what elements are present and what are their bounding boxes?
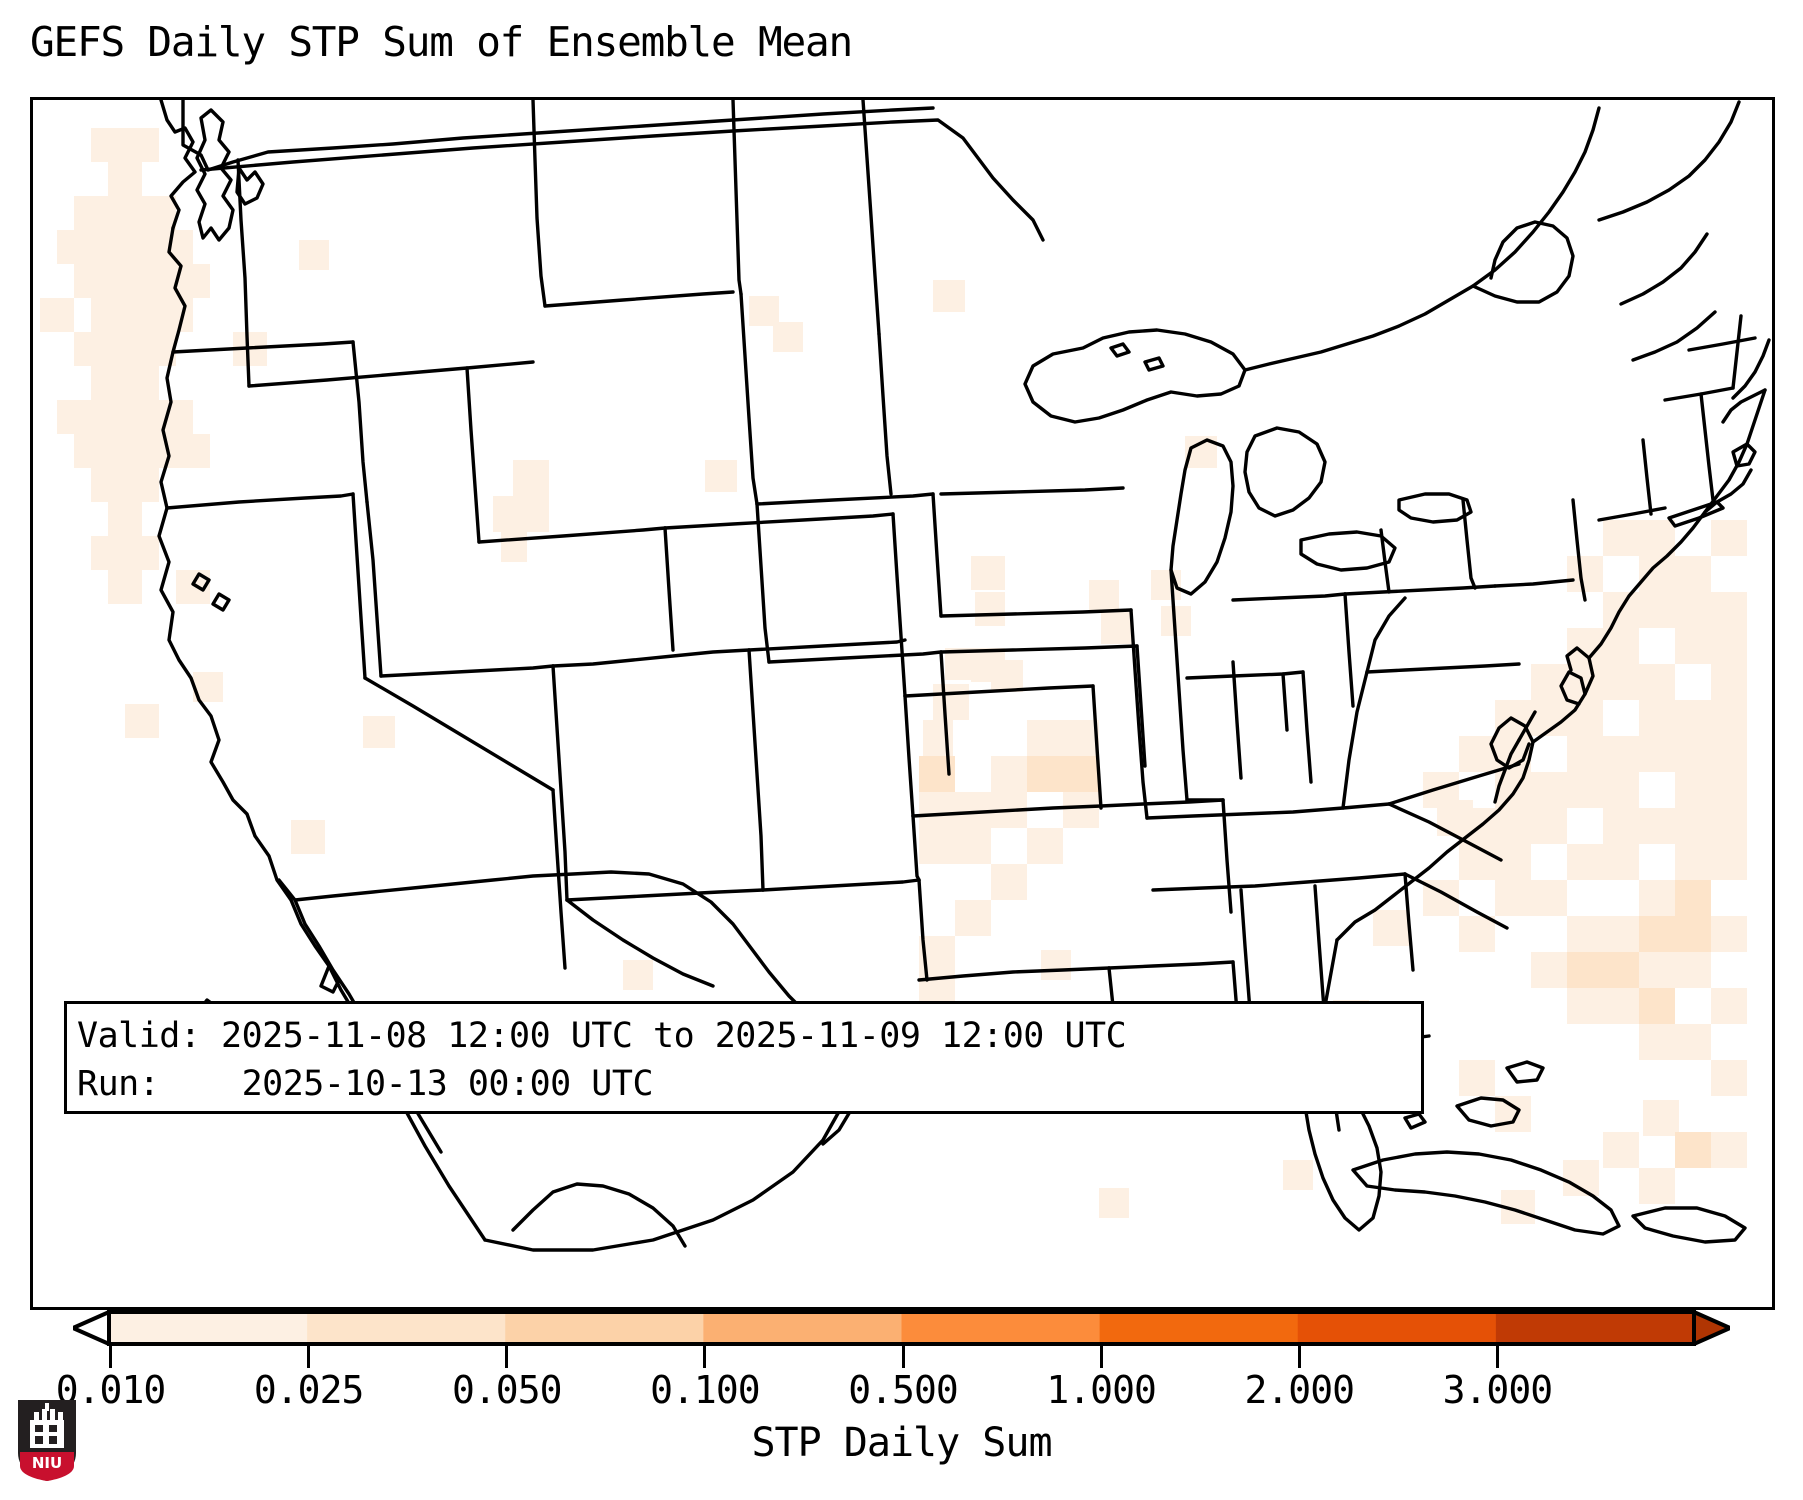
niu-logo: NIU xyxy=(16,1398,78,1483)
geography-outline-layer xyxy=(33,100,1772,1307)
niu-logo-text: NIU xyxy=(32,1454,62,1472)
colorbar-tick-label: 0.050 xyxy=(452,1368,561,1412)
forecast-info-box: Valid: 2025-11-08 12:00 UTC to 2025-11-0… xyxy=(64,1001,1424,1114)
colorbar-bin xyxy=(307,1312,506,1344)
colorbar-tick xyxy=(1298,1346,1301,1368)
colorbar-tick-label: 0.025 xyxy=(254,1368,363,1412)
colorbar-tick xyxy=(1496,1346,1499,1368)
colorbar-tick-label: 2.000 xyxy=(1245,1368,1354,1412)
colorbar: 0.0100.0250.0500.1000.5001.0002.0003.000 xyxy=(0,1310,1803,1370)
map-panel: Valid: 2025-11-08 12:00 UTC to 2025-11-0… xyxy=(30,97,1775,1310)
colorbar-tick-label: 1.000 xyxy=(1046,1368,1155,1412)
colorbar-axis-label: STP Daily Sum xyxy=(0,1420,1803,1466)
colorbar-tick-label: 3.000 xyxy=(1443,1368,1552,1412)
colorbar-tick xyxy=(109,1346,112,1368)
colorbar-bin xyxy=(505,1312,704,1344)
run-time-line: Run: 2025-10-13 00:00 UTC xyxy=(77,1060,1421,1108)
page-title: GEFS Daily STP Sum of Ensemble Mean xyxy=(30,18,852,66)
colorbar-over-arrow xyxy=(1694,1312,1730,1344)
colorbar-tick xyxy=(505,1346,508,1368)
colorbar-tick xyxy=(703,1346,706,1368)
colorbar-bin xyxy=(703,1312,902,1344)
colorbar-bin xyxy=(1496,1312,1695,1344)
colorbar-tick xyxy=(902,1346,905,1368)
colorbar-tick-labels: 0.0100.0250.0500.1000.5001.0002.0003.000 xyxy=(0,1368,1803,1418)
valid-time-line: Valid: 2025-11-08 12:00 UTC to 2025-11-0… xyxy=(77,1012,1421,1060)
colorbar-bin xyxy=(109,1312,308,1344)
colorbar-bin xyxy=(1298,1312,1497,1344)
colorbar-tick-label: 0.500 xyxy=(848,1368,957,1412)
colorbar-ticks xyxy=(0,1346,1803,1368)
colorbar-tick xyxy=(307,1346,310,1368)
colorbar-gradient xyxy=(73,1310,1730,1346)
colorbar-tick xyxy=(1100,1346,1103,1368)
colorbar-bin xyxy=(1100,1312,1299,1344)
colorbar-bin xyxy=(902,1312,1101,1344)
colorbar-under-arrow xyxy=(73,1312,109,1344)
colorbar-tick-label: 0.100 xyxy=(650,1368,759,1412)
